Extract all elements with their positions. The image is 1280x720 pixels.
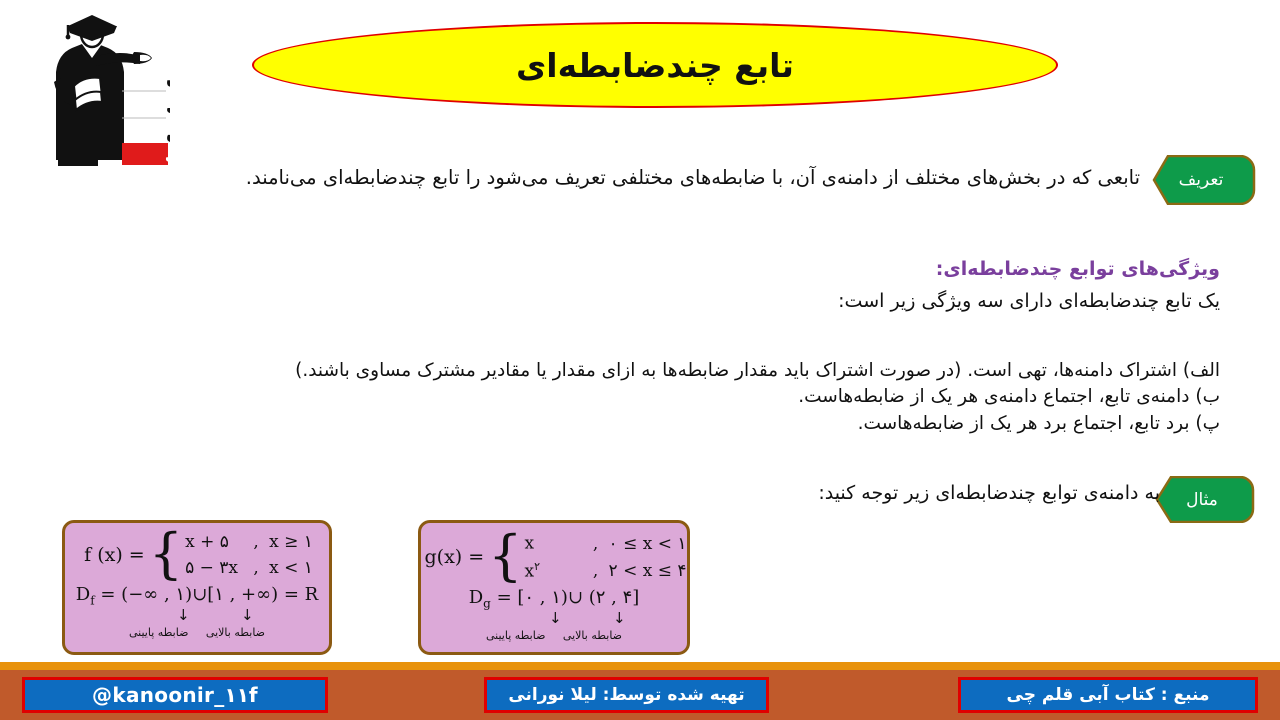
case-expression: x۲: [525, 560, 583, 582]
title-text: تابع چندضابطه‌ای: [252, 22, 1058, 108]
definition-badge-label: تعریف: [1179, 170, 1230, 190]
features-subheading: یک تابع چندضابطه‌ای دارای سه ویژگی زیر ا…: [60, 290, 1220, 312]
case-condition: x < ۱: [269, 558, 313, 578]
case-row: x + ۵ , x ≥ ۱: [185, 532, 313, 552]
logo-line-2: فرهنگی: [166, 95, 170, 116]
slide-root: کانون فرهنگی آموزش قلم‌چی تابع چندضابطه‌…: [0, 0, 1280, 720]
example-instruction: به دامنه‌ی توابع چندضابطه‌ای زیر توجه کن…: [120, 482, 1160, 504]
left-brace-icon: {: [149, 532, 183, 576]
footer-handle-box[interactable]: @kanoonir_۱۱f: [22, 677, 328, 713]
kanoon-ghalamchi-logo: کانون فرهنگی آموزش قلم‌چی: [30, 12, 170, 167]
case-expression: ۵ − ۳x: [185, 558, 243, 578]
footer-band: @kanoonir_۱۱f تهیه شده توسط: لیلا نورانی…: [0, 670, 1280, 720]
cases-f: x + ۵ , x ≥ ۱ ۵ − ۳x , x < ۱: [185, 532, 313, 578]
cases-g: x , ۰ ≤ x < ۱ x۲ , ۲ < x ≤ ۴: [525, 532, 687, 581]
features-list: الف) اشتراک دامنه‌ها، تهی است. (در صورت …: [60, 358, 1220, 437]
case-expression-base: x: [525, 534, 535, 554]
piecewise-f: f (x) = { x + ۵ , x ≥ ۱ ۵ − ۳x , x < ۱: [65, 523, 329, 578]
rule-label-upper: ضابطه بالایی: [556, 629, 629, 642]
example-badge-label: مثال: [1186, 490, 1224, 510]
case-condition: ۲ < x ≤ ۴: [609, 561, 687, 581]
case-expression: x + ۵: [185, 532, 243, 552]
case-comma: ,: [583, 534, 609, 554]
example-badge: مثال: [1155, 476, 1255, 523]
footer-accent-strip: [0, 662, 1280, 670]
features-heading: ویژگی‌های توابع چندضابطه‌ای:: [60, 258, 1220, 280]
footer-prepared-by-box: تهیه شده توسط: لیلا نورانی: [484, 677, 769, 713]
domain-symbol: D: [469, 587, 483, 608]
footer-source-box: منبع : کتاب آبی قلم چی: [958, 677, 1258, 713]
down-arrow-icon: ↓: [549, 611, 562, 625]
feature-item-alef: الف) اشتراک دامنه‌ها، تهی است. (در صورت …: [60, 358, 1220, 384]
case-expression: x: [525, 532, 583, 554]
case-comma: ,: [243, 558, 269, 578]
rule-arrows-f: ↓ ↓: [65, 608, 329, 625]
function-label-g: g(x) =: [422, 546, 485, 568]
case-comma: ,: [583, 561, 609, 581]
case-comma: ,: [243, 532, 269, 552]
case-row: ۵ − ۳x , x < ۱: [185, 558, 313, 578]
feature-item-be: ب) دامنه‌ی تابع، اجتماع دامنه‌ی هر یک از…: [60, 384, 1220, 410]
domain-value: = (−∞ , ۱)∪[۱ , +∞) = R: [95, 584, 319, 605]
function-label-f: f (x) =: [81, 544, 145, 566]
rule-label-lower: ضابطه پایینی: [479, 629, 552, 642]
feature-item-pe: پ) برد تابع، اجتماع برد هر یک از ضابطه‌ه…: [60, 411, 1220, 437]
case-expression-base: x: [525, 561, 535, 581]
case-row: x , ۰ ≤ x < ۱: [525, 532, 687, 554]
rule-arrows-g: ↓ ↓: [421, 611, 687, 628]
definition-text: تابعی که در بخش‌های مختلف از دامنه‌ی آن،…: [135, 163, 1140, 192]
domain-line-g: Dg = [۰ , ۱)∪ (۲ , ۴]: [421, 587, 687, 611]
down-arrow-icon: ↓: [613, 611, 626, 625]
logo-line-1: کانون: [166, 69, 170, 89]
rule-label-upper: ضابطه بالایی: [199, 626, 272, 639]
case-condition: ۰ ≤ x < ۱: [609, 534, 687, 554]
domain-subscript: g: [483, 597, 491, 611]
down-arrow-icon: ↓: [241, 608, 254, 622]
piecewise-g: g(x) = { x , ۰ ≤ x < ۱ x۲ , ۲ < x ≤ ۴: [421, 523, 687, 581]
domain-line-f: Df = (−∞ , ۱)∪[۱ , +∞) = R: [65, 584, 329, 608]
math-box-f: f (x) = { x + ۵ , x ≥ ۱ ۵ − ۳x , x < ۱ D…: [62, 520, 332, 655]
domain-value: = [۰ , ۱)∪ (۲ , ۴]: [491, 587, 639, 608]
case-condition: x ≥ ۱: [269, 532, 313, 552]
logo-graphic: کانون فرهنگی آموزش قلم‌چی: [30, 12, 170, 167]
page-title: تابع چندضابطه‌ای: [252, 22, 1058, 108]
case-row: x۲ , ۲ < x ≤ ۴: [525, 560, 687, 582]
math-box-g: g(x) = { x , ۰ ≤ x < ۱ x۲ , ۲ < x ≤ ۴ Dg…: [418, 520, 690, 655]
left-brace-icon: {: [488, 534, 522, 578]
domain-symbol: D: [76, 584, 90, 605]
rule-labels-f: ضابطه بالایی ضابطه پایینی: [65, 626, 329, 639]
down-arrow-icon: ↓: [177, 608, 190, 622]
rule-label-lower: ضابطه پایینی: [122, 626, 195, 639]
logo-line-3: آموزش: [166, 121, 170, 143]
definition-badge: تعریف: [1152, 155, 1256, 205]
rule-labels-g: ضابطه بالایی ضابطه پایینی: [421, 629, 687, 642]
case-exponent: ۲: [534, 560, 540, 573]
